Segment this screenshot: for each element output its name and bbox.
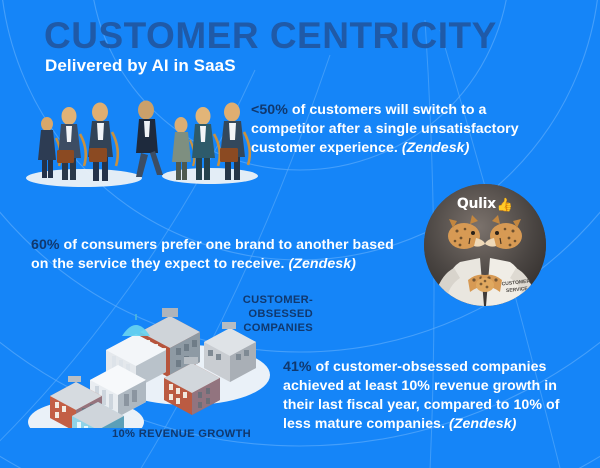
stat1-body: of customers will switch to a competitor… [251,102,519,156]
stat1-source: (Zendesk) [402,140,469,156]
stat3-body: of customer-obsessed companies achieved … [283,359,560,432]
stat2-highlight: 60% [31,237,60,253]
page-title: CUSTOMER CENTRICITY [44,17,497,54]
stat-block-brand-preference: 60% of consumers prefer one brand to ano… [31,236,401,274]
stat1-highlight: <50% [251,102,288,118]
stat-block-switch-rate: <50% of customers will switch to a compe… [251,101,551,158]
qulix-brand-text: Qulix [457,196,496,212]
infographic-poster: CUSTOMER CENTRICITY Delivered by AI in S… [0,0,600,468]
isometric-buildings-illustration [28,300,286,428]
page-subtitle: Delivered by AI in SaaS [45,56,236,76]
stat2-source: (Zendesk) [288,256,355,272]
stat-block-revenue-growth: 41% of customer-obsessed companies achie… [283,358,573,434]
business-people-illustration [24,94,260,190]
caption-revenue-growth: 10% REVENUE GROWTH [112,427,251,441]
thumbs-up-icon: 👍 [497,198,513,211]
stat3-source: (Zendesk) [449,416,516,432]
stat3-highlight: 41% [283,359,312,375]
qulix-cheetah-photo: CUSTOMER SERVICE Qulix 👍 [424,184,546,306]
qulix-logo: Qulix 👍 [424,196,546,212]
